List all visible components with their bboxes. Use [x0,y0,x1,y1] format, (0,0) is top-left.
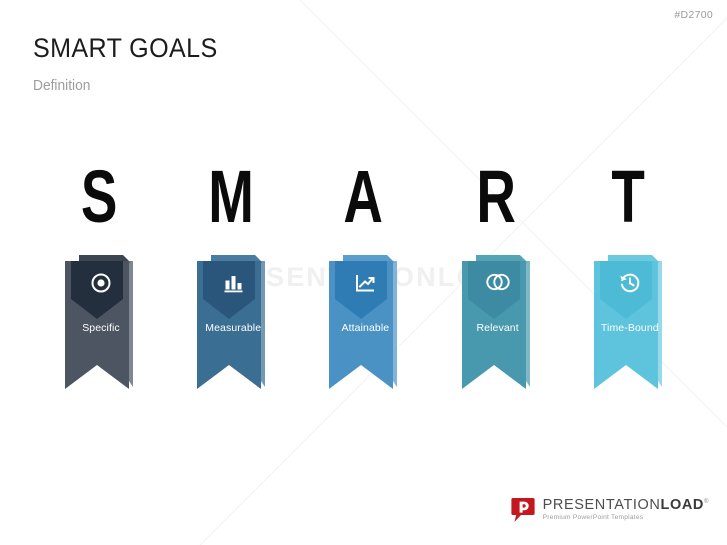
ribbon-label-attainable: Attainable [329,322,401,334]
smart-item-specific[interactable]: S Specific [33,160,165,400]
smart-item-time-bound[interactable]: T Time-Bound [562,160,694,400]
letter-s: S [50,160,148,234]
smart-item-attainable[interactable]: A Attainable [297,160,429,400]
logo-word-main: PRESENTATION [543,497,661,513]
logo-wordmark: PRESENTATIONLOAD® [543,498,709,513]
logo-word-bold: LOAD [660,497,703,513]
ribbon-specific[interactable]: Specific [65,255,137,395]
ribbon-label-relevant: Relevant [462,322,534,334]
logo-registered-mark: ® [704,499,709,505]
letter-a: A [315,160,413,234]
ribbon-measurable[interactable]: Measurable [197,255,269,395]
logo-text-block: PRESENTATIONLOAD® Premium PowerPoint Tem… [543,498,709,522]
ribbon-attainable[interactable]: Attainable [329,255,401,395]
smart-item-measurable[interactable]: M Measurable [165,160,297,400]
smart-item-relevant[interactable]: R Relevant [430,160,562,400]
document-code: #D2700 [674,9,713,21]
presentationload-logo[interactable]: PRESENTATIONLOAD® Premium PowerPoint Tem… [511,497,709,523]
letter-r: R [447,160,545,234]
letter-t: T [579,160,677,234]
ribbon-time-bound[interactable]: Time-Bound [594,255,666,395]
letter-m: M [182,160,280,234]
ribbon-relevant[interactable]: Relevant [462,255,534,395]
logo-tagline: Premium PowerPoint Templates [543,515,709,522]
ribbon-label-measurable: Measurable [197,322,269,334]
ribbon-label-specific: Specific [65,322,137,334]
smart-columns: S Specific [33,160,694,400]
slide-canvas: #D2700 SMART GOALS Definition PRESENTATI… [0,0,727,545]
ribbon-label-time-bound: Time-Bound [594,322,666,334]
page-subtitle: Definition [33,78,90,94]
speech-bubble-p-icon [511,497,535,523]
page-title: SMART GOALS [33,33,218,64]
